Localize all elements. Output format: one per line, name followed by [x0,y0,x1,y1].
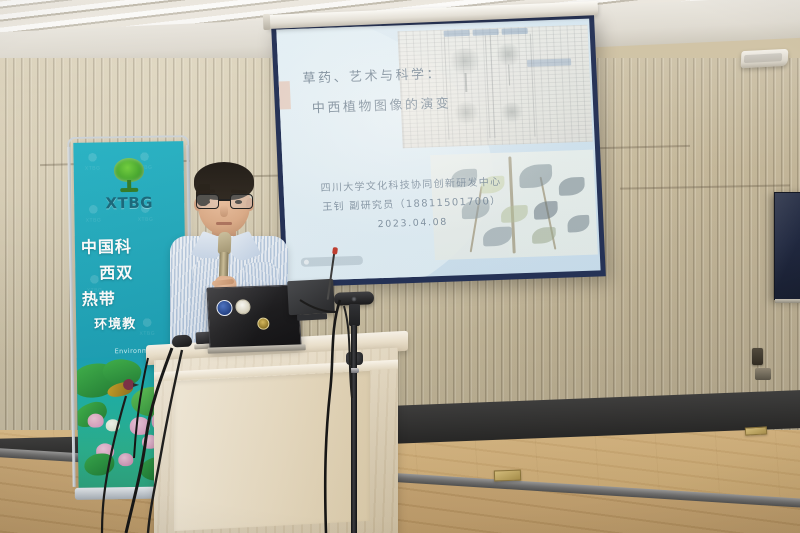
cable-webcam [325,300,340,533]
cable-left [126,348,172,533]
cable-bundle [0,0,800,533]
cables-svg [0,0,800,533]
cable-banner-area [102,396,126,533]
cable-webcam-2 [344,306,352,398]
cable-laptop-to-webcam [300,300,336,312]
lecture-room-photo: 草药、艺术与科学： 中西植物图像的演变 四川大学文化科技协同创新研发中心 王钊 … [0,0,800,533]
cable-left-2 [148,350,182,533]
